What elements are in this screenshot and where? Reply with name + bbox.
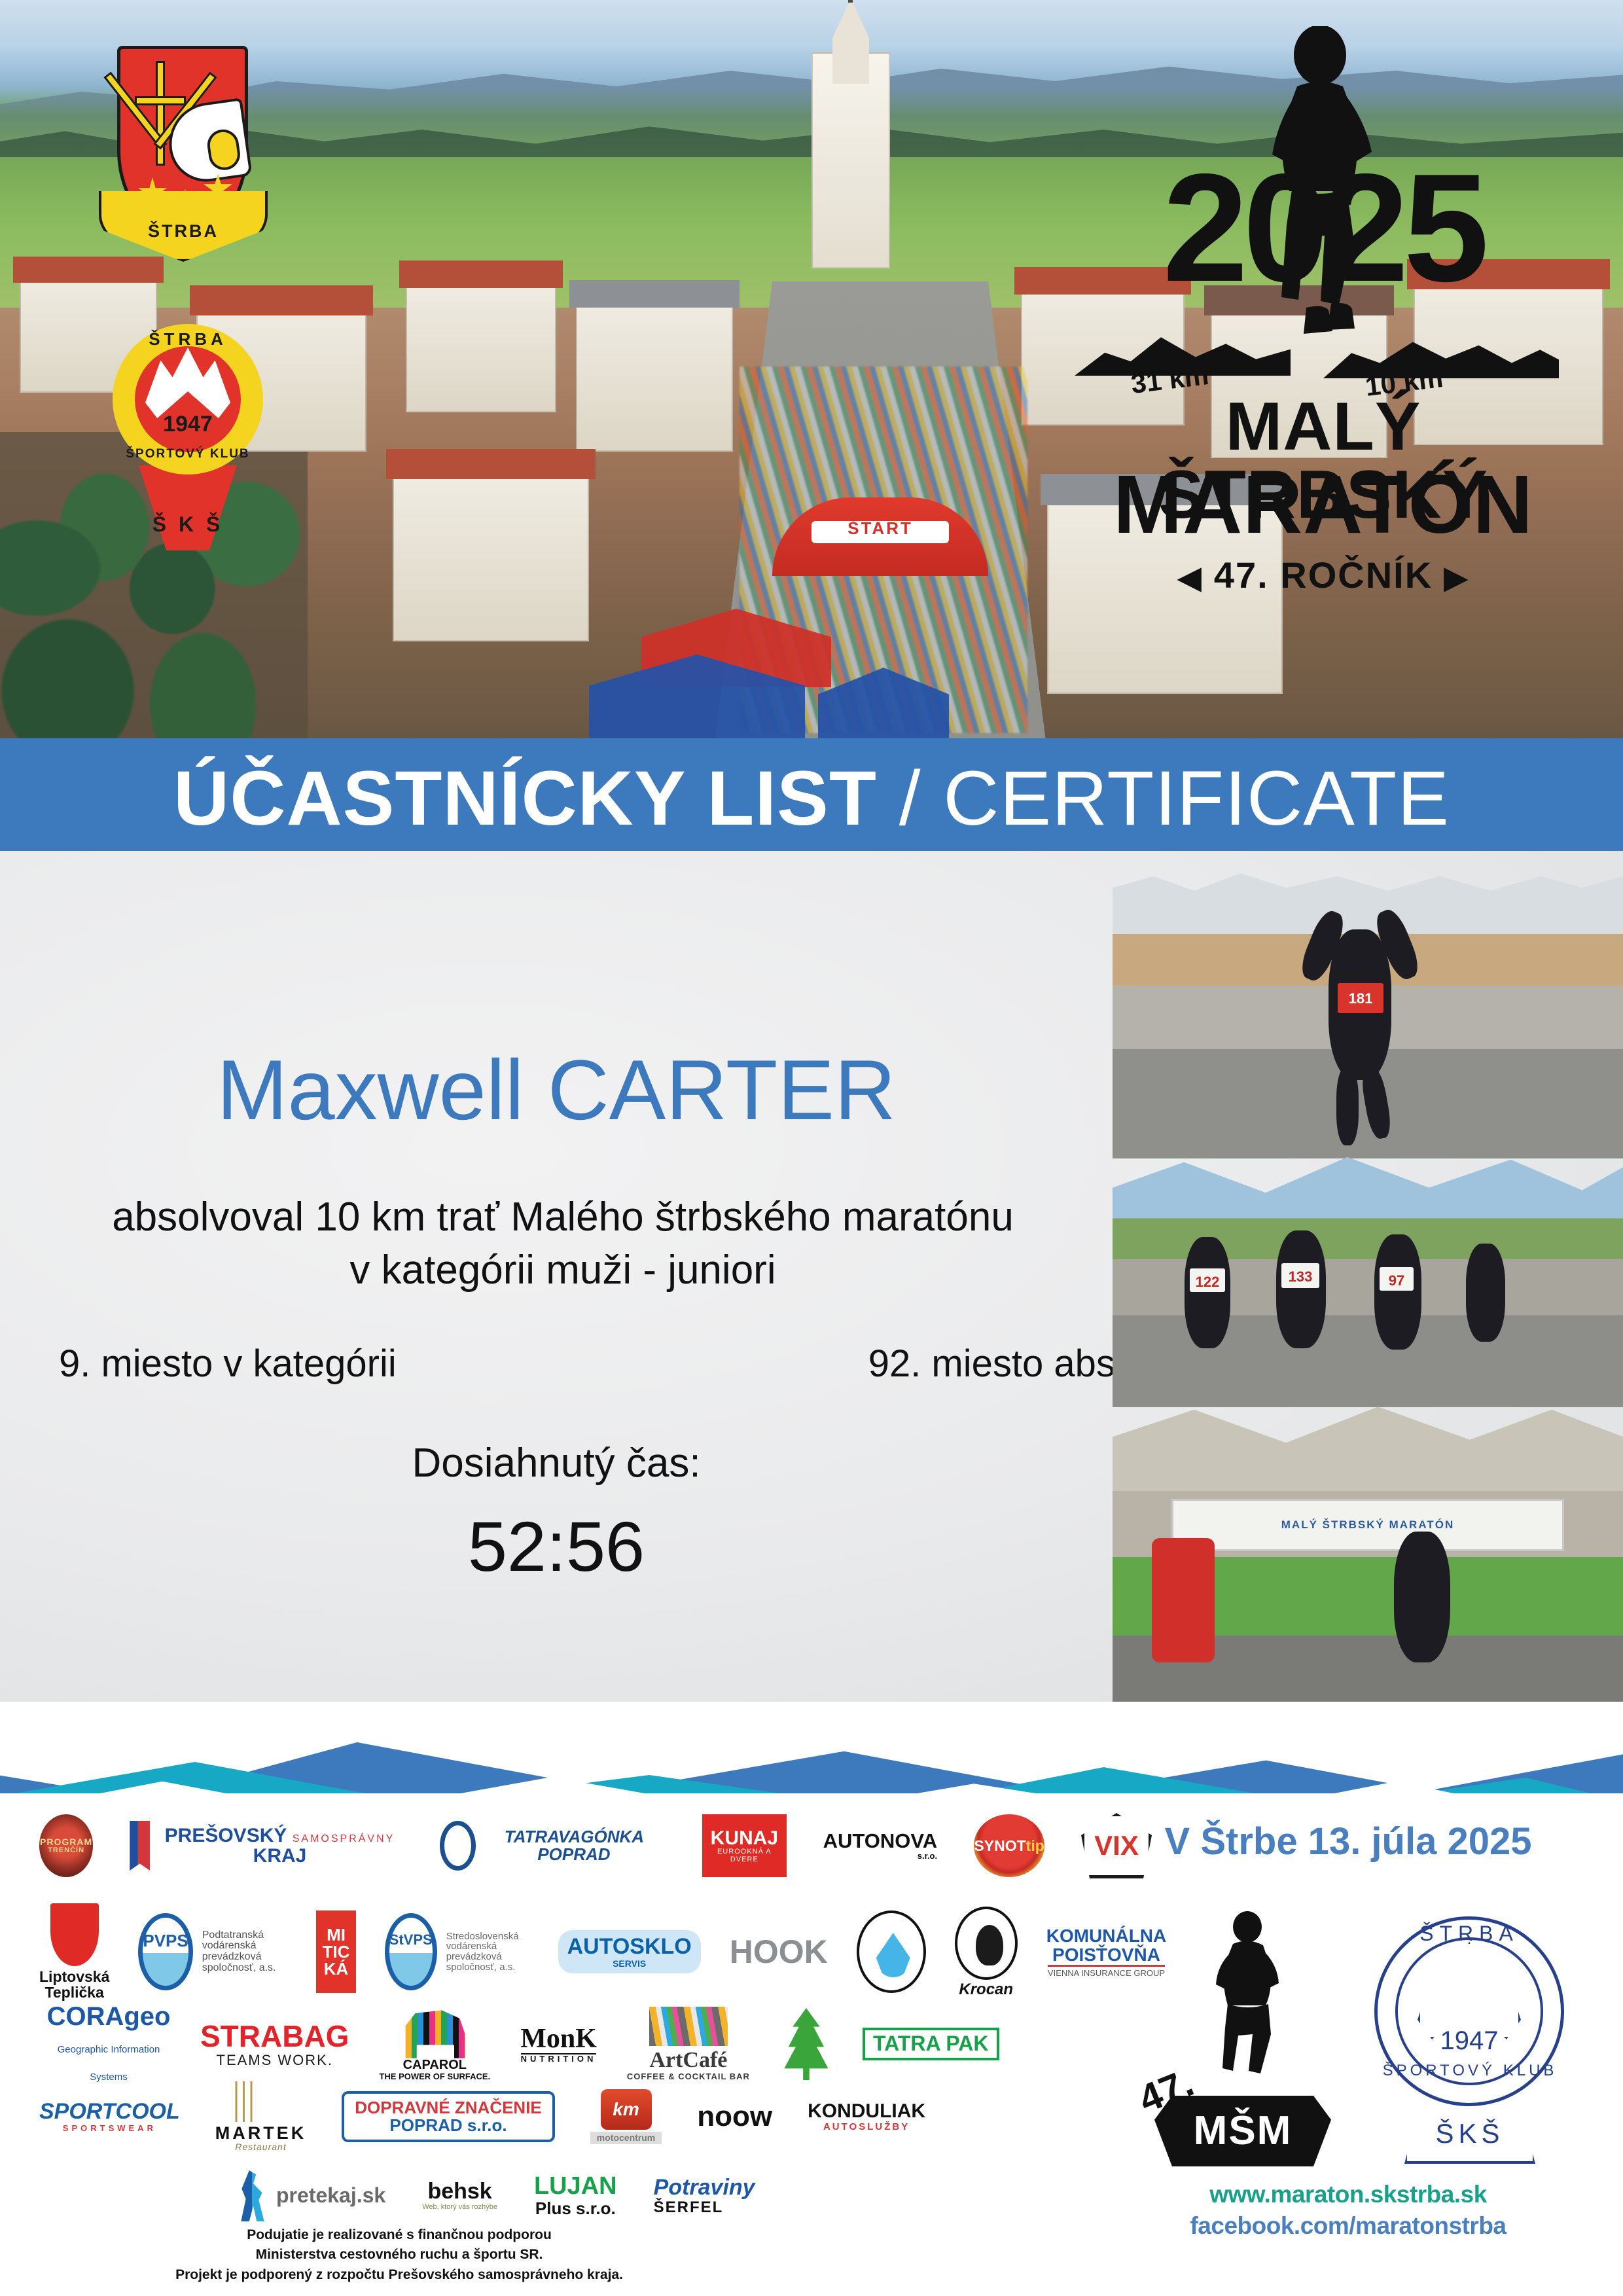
sponsor-logo-pvps: PVPS Podtatranská vodárenská prevádzková… (138, 1913, 287, 1990)
sponsor-name: Liptovská (39, 1969, 109, 1984)
sponsor-sub: COFFEE & COCKTAIL BAR (627, 2072, 750, 2081)
sponsor-sub: ŠERFEL (654, 2199, 724, 2215)
funding-line2: Ministerstva cestovného ruchu a športu S… (46, 2245, 753, 2265)
village-house (576, 301, 733, 452)
sponsor-logo-autonova: AUTONOVA s.r.o. (823, 1831, 938, 1861)
footer-emblems: 47. MŠM ŠTRBA 1947 ŠPORTOVÝ KLUB ŠKŠ (1113, 1892, 1584, 2173)
race-edition-label: 47. ROČNÍK (1214, 554, 1433, 596)
photo-collage: 181 122 133 97 MALÝ ŠTRBSKÝ MARATÓN (1113, 870, 1623, 1702)
place-category: 9. miesto v kategórii (59, 1342, 397, 1386)
race-year-label: 2025 (1068, 151, 1578, 304)
club-tail (139, 465, 237, 550)
crest-staff (156, 61, 165, 166)
sponsor-logo-kunaj: KUNAJ EUROOKNÁ A DVERE (702, 1814, 787, 1877)
sponsor-logo-behsk: behsk Web, ktorý vás rozhýbe (422, 2180, 497, 2211)
sponsor-logo-pretekaj: pretekaj.sk (236, 2170, 385, 2221)
stamp-tail-label: ŠKŠ (1404, 2118, 1535, 2149)
sponsor-sub: Stredoslovenská vodárenská (446, 1931, 529, 1952)
crest-arm (164, 98, 253, 187)
sponsor-sub: tip (1026, 1838, 1044, 1854)
sponsor-logo-martek: MARTEK Restaurant (215, 2081, 307, 2152)
runner-figure (1374, 1234, 1421, 1350)
sponsor-name: HOOK (730, 1935, 828, 1969)
sponsor-row-3: CORAgeo Geographic Information Systems S… (39, 2003, 999, 2085)
sponsor-row-5: pretekaj.sk behsk Web, ktorý vás rozhýbe… (236, 2170, 755, 2221)
sponsor-name: TATRA PAK (873, 2033, 989, 2055)
strba-coat-of-arms: ŠTRBA (101, 26, 265, 288)
sponsor-sub: SPORTSWEAR (63, 2124, 156, 2133)
footer: PROGRAM TRENČÍN PREŠOVSKÝ SAMOSPRÁVNY KR… (0, 1793, 1623, 2296)
sponsor-sub: TRENČÍN (48, 1847, 84, 1855)
sponsor-name: STRABAG (200, 2020, 349, 2052)
church-spire (832, 0, 869, 84)
sponsor-sub: motocentrum (590, 2132, 662, 2144)
artcafe-stripes-icon (649, 2007, 728, 2046)
sponsor-name: MARTEK (215, 2124, 307, 2142)
sponsor-logo-strabag: STRABAG TEAMS WORK. (200, 2020, 349, 2067)
pvps-mark-icon: PVPS (138, 1913, 192, 1990)
runner-figure (1394, 1532, 1450, 1662)
arrow-left-icon: ◀ (1178, 560, 1202, 594)
title-english: CERTIFICATE (943, 755, 1450, 842)
sponsor-sub: Restaurant (235, 2142, 286, 2152)
sponsor-row-4: SPORTCOOL SPORTSWEAR MARTEK Restaurant D… (39, 2081, 925, 2152)
house-roof (399, 260, 563, 288)
sponsor-logo-miticka: MI TIC KÁ (316, 1910, 355, 1993)
km-badge-icon: km (601, 2089, 652, 2130)
mountain-range-graphic: 31 km 10 km (1075, 308, 1572, 399)
sponsor-name: MI TIC KÁ (316, 1926, 355, 1977)
sponsor-logos: PROGRAM TRENČÍN PREŠOVSKÝ SAMOSPRÁVNY KR… (39, 1806, 1152, 2225)
sponsor-name: LUJAN (534, 2174, 617, 2200)
sponsor-logo-monk: MonK NUTRITION (520, 2024, 597, 2064)
pd-strba-seal-icon (857, 1910, 926, 1993)
sponsor-row-1: PROGRAM TRENČÍN PREŠOVSKÝ SAMOSPRÁVNY KR… (39, 1813, 1152, 1878)
sponsor-name: PROGRAM (40, 1837, 92, 1847)
church-building (811, 52, 890, 268)
certificate-page: ŠTART ŠTRBA ŠTRBA 1947 ŠPORTOVÝ KLUB (0, 0, 1623, 2296)
runner-silhouette-icon (1195, 1911, 1293, 2075)
liptovska-crest-icon (50, 1903, 99, 1966)
certificate-description: absolvoval 10 km trať Malého štrbského m… (0, 1191, 1126, 1297)
sponsor-name: Krocan (959, 1981, 1013, 1998)
sponsor-logo-pd-strba (857, 1910, 926, 1993)
photo-runners-group: 122 133 97 (1113, 1152, 1623, 1407)
sponsor-sub: EUROOKNÁ A DVERE (702, 1848, 787, 1863)
place-absolute: 92. miesto abs. (868, 1342, 1126, 1386)
sponsor-logo-caparol: CAPAROL THE POWER OF SURFACE. (379, 2007, 490, 2081)
sponsor-name: KONDULIAK (808, 2101, 925, 2122)
sponsor-logo-artcafe: ArtCafé COFFEE & COCKTAIL BAR (627, 2007, 750, 2081)
runner-leg (1336, 1067, 1359, 1145)
time-value: 52:56 (0, 1505, 1113, 1587)
house-roof (386, 449, 596, 479)
crest-banner-label: ŠTRBA (101, 221, 265, 242)
title-separator: / (877, 755, 943, 842)
sks-club-emblem: ŠTRBA 1947 ŠPORTOVÝ KLUB Š K Š (98, 304, 275, 579)
sponsor-logo-tatravagonka: TATRAVAGÓNKA POPRAD (440, 1821, 666, 1871)
msm-emblem: 47. MŠM (1139, 1905, 1342, 2166)
village-house (406, 281, 556, 412)
facebook-link[interactable]: facebook.com/maratonstrba (1113, 2212, 1584, 2240)
sponsor-sub: SERVIS (613, 1959, 646, 1969)
description-line2: v kategórii muži - juniori (0, 1244, 1126, 1297)
sponsor-logo-hook: HOOK (730, 1935, 828, 1969)
sponsor-sub: Web, ktorý vás rozhýbe (422, 2204, 497, 2212)
race-title-line2: MARATÓN (1055, 463, 1592, 546)
sponsor-sub: TEAMS WORK. (217, 2053, 333, 2068)
msm-abbrev-label: MŠM (1154, 2108, 1331, 2154)
sponsor-row-2: Liptovská Teplička PVPS Podtatranská vod… (39, 1903, 1166, 2000)
elephant-icon (400, 2007, 469, 2058)
village-house (393, 471, 589, 641)
website-link[interactable]: www.maraton.skstrba.sk (1113, 2181, 1584, 2208)
runner-pair-icon (236, 2170, 270, 2221)
funding-notice: Podujatie je realizované s finančnou pod… (46, 2225, 753, 2285)
sponsor-name: TATRAVAGÓNKA (505, 1827, 643, 1846)
sks-official-stamp: ŠTRBA 1947 ŠPORTOVÝ KLUB ŠKŠ (1361, 1898, 1577, 2166)
race-bib: 97 (1380, 1267, 1414, 1291)
race-edition-row: ◀ 47. ROČNÍK ▶ (1055, 554, 1592, 596)
sponsor-sub: Podtatranská vodárenská (202, 1930, 288, 1952)
sponsor-name: AUTONOVA (823, 1831, 938, 1852)
race-logo: 2025 31 km 10 km MALÝ ŠTRBSKÝ MARATÓN ◀ … (1055, 26, 1592, 596)
stamp-year-label: 1947 (1395, 2026, 1543, 2056)
sponsor-logo-dopravne-znacenie: DOPRAVNÉ ZNAČENIE POPRAD s.r.o. (342, 2091, 555, 2143)
sponsor-logo-stvps: StVPS Stredoslovenská vodárenská prevádz… (385, 1913, 529, 1990)
race-bib: 181 (1338, 983, 1383, 1013)
club-tail-label: Š K Š (139, 512, 237, 537)
runner-figure (1466, 1244, 1505, 1342)
sponsor-name: ArtCafé (649, 2049, 727, 2072)
sponsor-sub2: prevádzková spoločnosť, a.s. (202, 1952, 288, 1974)
sponsor-sub2: KRAJ (253, 1845, 307, 1867)
title-slovak: ÚČASTNÍCKY LIST (173, 755, 877, 842)
time-label: Dosiahnutý čas: (0, 1440, 1113, 1486)
club-year-label: 1947 (135, 412, 241, 437)
finish-banner: MALÝ ŠTRBSKÝ MARATÓN (1171, 1499, 1564, 1551)
sponsor-name: CORAgeo (47, 2002, 171, 2031)
photo-finisher-woman: 181 (1113, 870, 1623, 1158)
sponsor-sub: POPRAD s.r.o. (389, 2117, 507, 2134)
sponsor-name: behsk (427, 2180, 491, 2204)
sponsor-sub: POPRAD (537, 1844, 610, 1864)
sponsor-sub: NUTRITION (521, 2053, 597, 2064)
house-roof (569, 280, 740, 308)
sponsor-name: pretekaj.sk (276, 2185, 385, 2207)
photo-finish-line: MALÝ ŠTRBSKÝ MARATÓN (1113, 1401, 1623, 1702)
start-banner-label: ŠTART (793, 518, 967, 539)
sponsor-logo-km-motocentrum: km motocentrum (590, 2089, 662, 2144)
sponsor-logo-liptovska-teplicka: Liptovská Teplička (39, 1903, 109, 2000)
cutlery-icon (229, 2081, 292, 2122)
sponsor-logo-synottip: SYNOTtip (974, 1814, 1044, 1877)
sponsor-logo-program: PROGRAM TRENČÍN (39, 1814, 93, 1877)
sponsor-name: KUNAJ (711, 1828, 778, 1849)
sponsor-sub: AUTOSLUŽBY (823, 2122, 910, 2132)
race-bib: 122 (1190, 1268, 1225, 1292)
funding-line3: Projekt je podporený z rozpočtu Prešovsk… (46, 2265, 753, 2285)
stvps-mark-icon: StVPS (385, 1913, 437, 1990)
sponsor-name: noow (697, 2102, 772, 2132)
stamp-top-label: ŠTRBA (1374, 1922, 1564, 1946)
sponsor-logo-corageo: CORAgeo Geographic Information Systems (39, 2003, 170, 2085)
sponsor-logo-konduliak: KONDULIAK AUTOSLUŽBY (808, 2101, 925, 2132)
sponsor-logo-potraviny-serfel: Potraviny ŠERFEL (654, 2176, 755, 2216)
folk-costume-figure (1152, 1538, 1215, 1662)
runner-figure (1185, 1237, 1230, 1348)
sponsor-sub: Geographic Information Systems (58, 2044, 160, 2083)
sponsor-logo-noow: noow (697, 2102, 772, 2132)
club-top-label: ŠTRBA (113, 329, 263, 350)
sponsor-name: SPORTCOOL (39, 2100, 180, 2124)
sponsor-name: PREŠOVSKÝ (165, 1825, 287, 1846)
race-bib: 133 (1281, 1263, 1319, 1288)
placement-row: 9. miesto v kategórii 92. miesto abs. (59, 1342, 1126, 1386)
sponsor-sub: Teplička (45, 1984, 104, 2000)
sponsor-sub: s.r.o. (918, 1852, 937, 1861)
sponsor-sub: THE POWER OF SURFACE. (379, 2072, 490, 2081)
sponsor-logo-sportcool: SPORTCOOL SPORTSWEAR (39, 2100, 180, 2132)
sponsor-logo-autosklo: AUTOSKLO SERVIS (558, 1930, 701, 1973)
runner-figure (1276, 1230, 1326, 1348)
sponsor-name: AUTOSKLO (567, 1935, 692, 1959)
certificate-title: ÚČASTNÍCKY LIST / CERTIFICATE (0, 744, 1623, 853)
tatravagonka-mark-icon (440, 1821, 476, 1871)
participant-name: Maxwell CARTER (0, 1041, 1113, 1139)
sponsor-sub: Plus s.r.o. (535, 2200, 616, 2217)
stamp-bottom-label: ŠPORTOVÝ KLUB (1365, 2062, 1575, 2080)
sponsor-name: DOPRAVNÉ ZNAČENIE (355, 2099, 542, 2117)
church-cross-icon (848, 0, 853, 3)
club-bottom-label: ŠPORTOVÝ KLUB (106, 447, 270, 461)
sponsor-name: Potraviny (654, 2176, 755, 2200)
turkey-icon (955, 1907, 1018, 1980)
sponsor-name: CAPAROL (403, 2058, 467, 2072)
sponsor-sub: SAMOSPRÁVNY (293, 1833, 395, 1844)
kraj-mark-icon (130, 1821, 150, 1871)
sponsor-name: MonK (520, 2024, 597, 2053)
sponsor-logo-lujan: LUJAN Plus s.r.o. (534, 2174, 617, 2217)
sponsor-name: SYNOT (974, 1838, 1026, 1854)
description-line1: absolvoval 10 km trať Malého štrbského m… (0, 1191, 1126, 1244)
runner-leg (1359, 1066, 1394, 1140)
issue-date: V Štrbe 13. júla 2025 (1113, 1820, 1584, 1863)
tree-icon (780, 2008, 832, 2080)
sponsor-logo-presovsky-kraj: PREŠOVSKÝ SAMOSPRÁVNY KRAJ (130, 1821, 403, 1871)
arrow-right-icon: ▶ (1444, 560, 1469, 594)
sponsor-sub2: prevádzková spoločnosť, a.s. (446, 1952, 529, 1973)
sponsor-logo-tatrapak: TATRA PAK (863, 2028, 999, 2060)
crest-cuff (205, 128, 242, 172)
sponsor-logo-krocan: Krocan (955, 1907, 1018, 1998)
funding-line1: Podujatie je realizované s finančnou pod… (46, 2225, 753, 2245)
crest-crossbar (135, 96, 186, 105)
sponsor-logo-ps-urbar-strba (780, 2008, 832, 2080)
